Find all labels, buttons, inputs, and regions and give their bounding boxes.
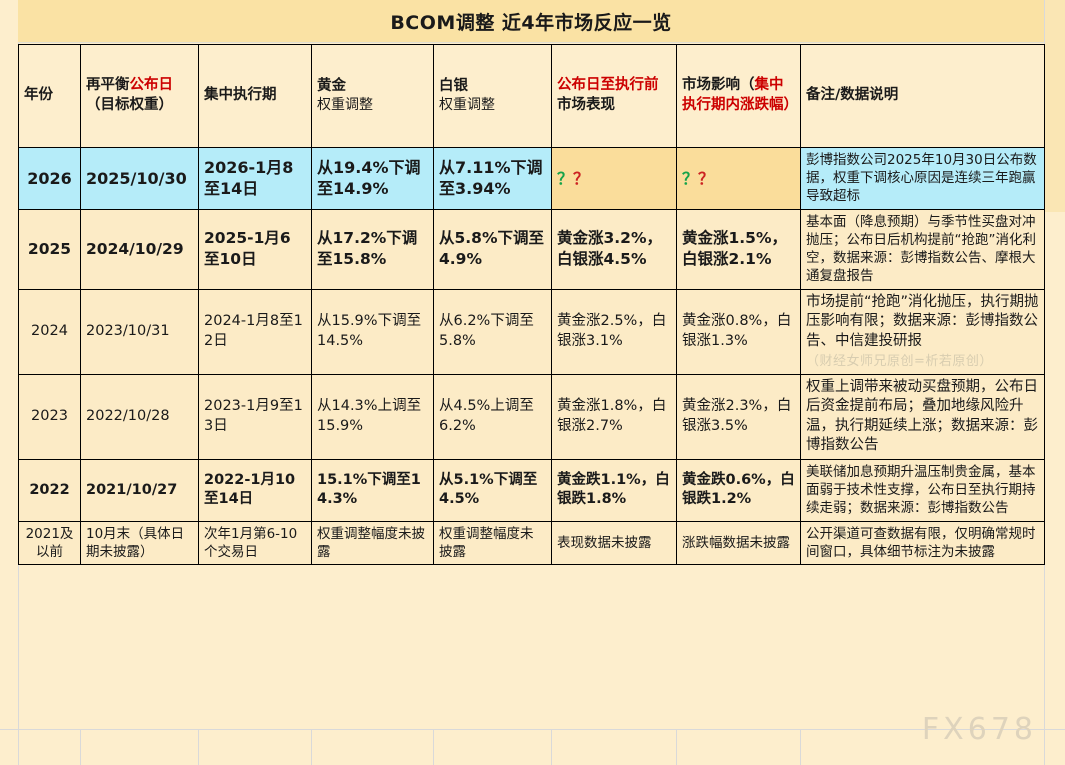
cell-announce-date: 2024/10/29 — [81, 209, 199, 289]
sheet-gutter-right-lower — [1044, 212, 1065, 765]
sheet-gridline — [676, 729, 677, 765]
cell-year: 2023 — [19, 374, 81, 459]
chart-title-band: BCOM调整 近4年市场反应一览 — [18, 0, 1044, 43]
sheet-gridline — [18, 729, 19, 765]
sheet-gridline — [551, 729, 552, 765]
cell-announce-date: 10月末（具体日期未披露） — [81, 521, 199, 564]
header-row: 年份 再平衡公布日（目标权重） 集中执行期 黄金 权重调整 白银 权重调整 公布 — [19, 45, 1045, 148]
cell-gold-weight: 从14.3%上调至15.9% — [312, 374, 434, 459]
cell-execution-window: 2026-1月8至14日 — [199, 148, 312, 210]
cell-execution-window: 次年1月第6-10个交易日 — [199, 521, 312, 564]
cell-note: 市场提前“抢跑”消化抛压，执行期抛压影响有限；数据来源：彭博指数公告、中信建投研… — [801, 289, 1045, 374]
col-header-pre-exec-performance: 公布日至执行前市场表现 — [552, 45, 677, 148]
cell-year: 2022 — [19, 460, 81, 522]
cell-pre-exec-performance: 黄金涨3.2%，白银涨4.5% — [552, 209, 677, 289]
spreadsheet-canvas: BCOM调整 近4年市场反应一览 年份 再平衡公布日（目标权重） 集中执行期 黄… — [0, 0, 1065, 765]
cell-year: 2021及以前 — [19, 521, 81, 564]
cell-note-text: 市场提前“抢跑”消化抛压，执行期抛压影响有限；数据来源：彭博指数公告、中信建投研… — [806, 294, 1039, 349]
cell-execution-window: 2022-1月10至14日 — [199, 460, 312, 522]
table-row: 2023 2022/10/28 2023-1月9至13日 从14.3%上调至15… — [19, 374, 1045, 459]
cell-pre-exec-performance: 黄金涨1.8%，白银涨2.7% — [552, 374, 677, 459]
sheet-gridline — [0, 729, 1065, 730]
sheet-gridline — [198, 729, 199, 765]
table-row: 2026 2025/10/30 2026-1月8至14日 从19.4%下调至14… — [19, 148, 1045, 210]
table-header: 年份 再平衡公布日（目标权重） 集中执行期 黄金 权重调整 白银 权重调整 公布 — [19, 45, 1045, 148]
cell-execution-window: 2024-1月8至12日 — [199, 289, 312, 374]
cell-note: 权重上调带来被动买盘预期，公布日后资金提前布局；叠加地缘风险升温，执行期延续上涨… — [801, 374, 1045, 459]
cell-announce-date: 2021/10/27 — [81, 460, 199, 522]
cell-announce-date: 2023/10/31 — [81, 289, 199, 374]
cell-gold-weight: 从15.9%下调至14.5% — [312, 289, 434, 374]
cell-year: 2025 — [19, 209, 81, 289]
inline-watermark: （财经女师兄原创=析若原创） — [806, 353, 1039, 371]
table-row: 2022 2021/10/27 2022-1月10至14日 15.1%下调至14… — [19, 460, 1045, 522]
sheet-gridline — [311, 729, 312, 765]
cell-gold-weight: 从19.4%下调至14.9% — [312, 148, 434, 210]
cell-execution-window: 2025-1月6至10日 — [199, 209, 312, 289]
cell-pre-exec-performance: 黄金跌1.1%，白银跌1.8% — [552, 460, 677, 522]
cell-exec-impact: 黄金涨1.5%，白银涨2.1% — [677, 209, 801, 289]
cell-gold-weight: 15.1%下调至14.3% — [312, 460, 434, 522]
sheet-gridline — [1044, 729, 1045, 765]
col-header-gold-weight: 黄金 权重调整 — [312, 45, 434, 148]
sheet-gridline — [433, 729, 434, 765]
cell-silver-weight: 权重调整幅度未披露 — [434, 521, 552, 564]
cell-note: 美联储加息预期升温压制贵金属，基本面弱于技术性支撑，公布日至执行期持续走弱；数据… — [801, 460, 1045, 522]
cell-silver-weight: 从7.11%下调至3.94% — [434, 148, 552, 210]
cell-gold-weight: 从17.2%下调至15.8% — [312, 209, 434, 289]
col-header-exec-impact: 市场影响（集中执行期内涨跌幅） — [677, 45, 801, 148]
empty-sheet-rows — [0, 729, 1065, 765]
market-reaction-table: 年份 再平衡公布日（目标权重） 集中执行期 黄金 权重调整 白银 权重调整 公布 — [18, 44, 1045, 565]
cell-silver-weight: 从6.2%下调至5.8% — [434, 289, 552, 374]
col-header-announce-date: 再平衡公布日（目标权重） — [81, 45, 199, 148]
cell-note: 基本面（降息预期）与季节性买盘对冲抛压；公布日后机构提前“抢跑”消化利空，数据来… — [801, 209, 1045, 289]
cell-silver-weight: 从5.8%下调至4.9% — [434, 209, 552, 289]
cell-exec-impact: 黄金涨0.8%，白银涨1.3% — [677, 289, 801, 374]
col-header-year: 年份 — [19, 45, 81, 148]
col-header-execution-window: 集中执行期 — [199, 45, 312, 148]
col-header-silver-weight: 白银 权重调整 — [434, 45, 552, 148]
table-body: 2026 2025/10/30 2026-1月8至14日 从19.4%下调至14… — [19, 148, 1045, 565]
cell-execution-window: 2023-1月9至13日 — [199, 374, 312, 459]
col-header-gold-weight-sub: 权重调整 — [317, 96, 428, 115]
cell-silver-weight: 从5.1%下调至4.5% — [434, 460, 552, 522]
cell-note: 公开渠道可查数据有限，仅明确常规时间窗口，具体细节标注为未披露 — [801, 521, 1045, 564]
cell-exec-impact: 黄金跌0.6%，白银跌1.2% — [677, 460, 801, 522]
cell-gold-weight: 权重调整幅度未披露 — [312, 521, 434, 564]
cell-announce-date: 2025/10/30 — [81, 148, 199, 210]
cell-pre-exec-performance: 表现数据未披露 — [552, 521, 677, 564]
cell-pre-exec-performance: ？？ — [552, 148, 677, 210]
sheet-gridline — [80, 729, 81, 765]
cell-year: 2024 — [19, 289, 81, 374]
cell-exec-impact: ？？ — [677, 148, 801, 210]
cell-exec-impact: 黄金涨2.3%，白银涨3.5% — [677, 374, 801, 459]
cell-announce-date: 2022/10/28 — [81, 374, 199, 459]
cell-year: 2026 — [19, 148, 81, 210]
table-row: 2024 2023/10/31 2024-1月8至12日 从15.9%下调至14… — [19, 289, 1045, 374]
cell-pre-exec-performance: 黄金涨2.5%，白银涨3.1% — [552, 289, 677, 374]
table-row: 2021及以前 10月末（具体日期未披露） 次年1月第6-10个交易日 权重调整… — [19, 521, 1045, 564]
cell-exec-impact: 涨跌幅数据未披露 — [677, 521, 801, 564]
sheet-gridline — [800, 729, 801, 765]
table-row: 2025 2024/10/29 2025-1月6至10日 从17.2%下调至15… — [19, 209, 1045, 289]
cell-note: 彭博指数公司2025年10月30日公布数据，权重下调核心原因是连续三年跑赢导致超… — [801, 148, 1045, 210]
sheet-gutter-left — [0, 0, 19, 765]
page-title: BCOM调整 近4年市场反应一览 — [390, 8, 671, 35]
col-header-silver-weight-sub: 权重调整 — [439, 96, 546, 115]
col-header-note: 备注/数据说明 — [801, 45, 1045, 148]
cell-silver-weight: 从4.5%上调至6.2% — [434, 374, 552, 459]
